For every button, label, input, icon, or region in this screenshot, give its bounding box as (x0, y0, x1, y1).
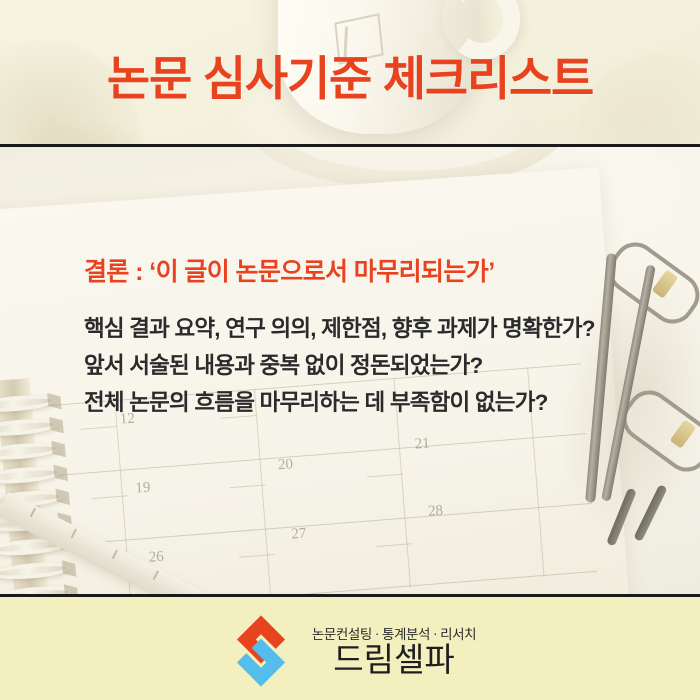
dreamsherpa-logo-icon (224, 614, 298, 688)
section-subheading: 결론 : ‘이 글이 논문으로서 마무리되는가’ (84, 252, 495, 288)
footer-brand-name: 드림셀파 (333, 644, 454, 679)
infographic-card: 논문 심사기준 체크리스트 12 19 20 (0, 0, 700, 700)
footer-tagline: 논문컨설팅 · 통계분석 · 리서치 (312, 623, 476, 643)
header-banner: 논문 심사기준 체크리스트 (0, 0, 700, 146)
checklist-item: 앞서 서술된 내용과 중복 없이 정돈되었는가? (84, 348, 482, 380)
checklist-item: 전체 논문의 흐름을 마무리하는 데 부족함이 없는가? (84, 385, 548, 417)
checklist-item: 핵심 결과 요약, 연구 의의, 제한점, 향후 과제가 명확한가? (84, 311, 595, 343)
content-photo-area: 12 19 20 21 26 27 28 (0, 147, 700, 596)
footer-bar: 논문컨설팅 · 통계분석 · 리서치 드림셀파 (0, 597, 700, 700)
checklist-text-block: 결론 : ‘이 글이 논문으로서 마무리되는가’ 핵심 결과 요약, 연구 의의… (0, 147, 700, 596)
page-title: 논문 심사기준 체크리스트 (0, 40, 700, 109)
